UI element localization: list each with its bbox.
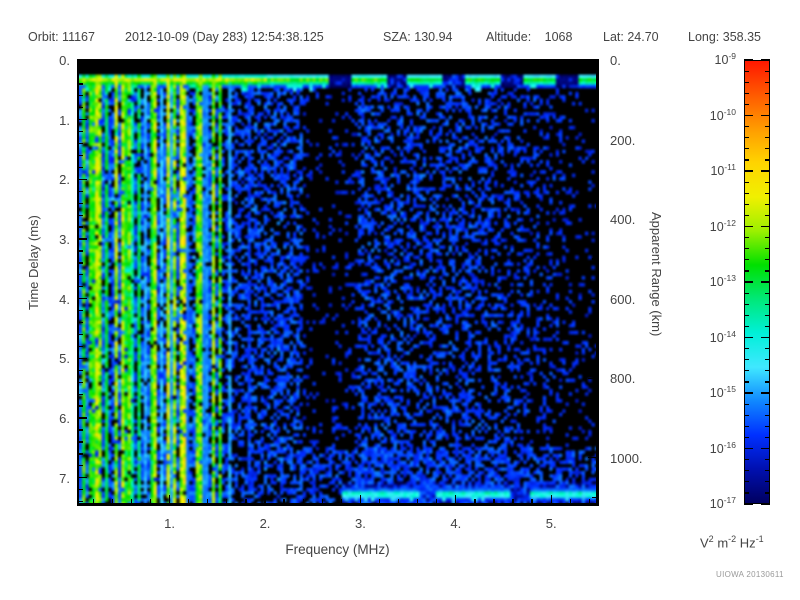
y-tick-left: [78, 167, 83, 168]
header-label-lat: Lat:: [603, 30, 624, 44]
colorbar-tick: [744, 71, 749, 72]
colorbar-tick: [765, 215, 770, 216]
plot-border-left: [77, 59, 79, 506]
x-tick-top: [398, 60, 399, 65]
y-tick-left: [78, 382, 83, 383]
colorbar-label-exponent: -11: [724, 162, 736, 172]
colorbar-tick: [744, 126, 749, 127]
y-tick-left: [78, 477, 87, 478]
y-tick-left: [78, 131, 83, 132]
y2-tick-right: [592, 99, 597, 100]
x-tick-bottom: [188, 499, 189, 504]
y-axis-title: Time Delay (ms): [26, 215, 41, 310]
y-tick-left: [78, 441, 83, 442]
colorbar-tick: [744, 82, 749, 83]
y-tick-left: [78, 358, 87, 359]
colorbar-tick: [744, 315, 749, 316]
x-tick-bottom: [226, 499, 227, 504]
y-tick-left: [78, 107, 83, 108]
colorbar-tick: [761, 170, 770, 171]
x-tick-top: [493, 60, 494, 65]
y-tick-left: [78, 83, 83, 84]
colorbar-tick: [744, 426, 749, 427]
x-tick-bottom: [303, 499, 304, 504]
x-tick-top: [417, 60, 418, 65]
y-tick-left: [78, 191, 83, 192]
colorbar-tick: [744, 270, 749, 271]
spectrogram-plot-area[interactable]: [78, 60, 597, 504]
header-label-orbit: Orbit:: [28, 30, 59, 44]
colorbar-tick-label: 10-15: [688, 384, 736, 400]
x-tick-top: [551, 60, 552, 69]
colorbar-tick: [744, 293, 749, 294]
colorbar-label-mantissa: 10: [715, 53, 729, 67]
colorbar-tick-label: 10-12: [688, 218, 736, 234]
colorbar-tick: [744, 237, 749, 238]
colorbar-tick: [744, 492, 749, 493]
colorbar-tick: [744, 159, 749, 160]
y-tick-left: [78, 286, 83, 287]
y-tick-left: [78, 119, 87, 120]
y2-tick-right: [588, 378, 597, 379]
header-value-sza: 130.94: [414, 30, 452, 44]
y-tick-label: 2.: [22, 172, 70, 187]
unit-volts-exponent: 2: [709, 534, 714, 544]
header-label-altitude: Altitude:: [486, 30, 531, 44]
colorbar-tick: [744, 182, 749, 183]
y-tick-left: [78, 226, 83, 227]
header-value-datetime: 2012-10-09 (Day 283) 12:54:38.125: [125, 30, 324, 44]
colorbar-tick: [744, 392, 753, 393]
y-tick-left: [78, 429, 83, 430]
y2-tick-right: [592, 338, 597, 339]
x-tick-top: [131, 60, 132, 65]
x-tick-bottom: [417, 499, 418, 504]
x-tick-top: [341, 60, 342, 65]
colorbar-tick: [761, 392, 770, 393]
metadata-header: Orbit: 11167 2012-10-09 (Day 283) 12:54:…: [0, 30, 800, 48]
y2-tick-right: [592, 417, 597, 418]
colorbar-tick: [744, 326, 749, 327]
x-tick-bottom: [322, 499, 323, 504]
y2-tick-right: [588, 298, 597, 299]
y2-tick-label: 400.: [610, 212, 635, 227]
x-tick-bottom: [455, 495, 456, 504]
x-tick-top: [150, 60, 151, 65]
y2-tick-right: [588, 59, 597, 60]
x-tick-top: [474, 60, 475, 65]
colorbar-tick: [761, 226, 770, 227]
colorbar-tick: [765, 304, 770, 305]
colorbar-tick-label: 10-17: [688, 495, 736, 511]
colorbar-tick-label: 10-11: [688, 162, 736, 178]
colorbar-label-exponent: -10: [724, 107, 736, 117]
colorbar-tick: [744, 348, 749, 349]
header-field-long: Long: 358.35: [688, 30, 761, 44]
colorbar-tick: [761, 281, 770, 282]
y-tick-left: [78, 155, 83, 156]
header-value-long: 358.35: [723, 30, 761, 44]
x-tick-top: [589, 60, 590, 65]
header-field-lat: Lat: 24.70: [603, 30, 659, 44]
colorbar-tick: [765, 315, 770, 316]
colorbar-tick: [744, 170, 753, 171]
colorbar-tick: [744, 404, 749, 405]
plot-border-top: [78, 59, 599, 61]
y2-tick-label: 800.: [610, 371, 635, 386]
y-tick-left: [78, 143, 83, 144]
x-tick-top: [264, 60, 265, 69]
x-tick-top: [379, 60, 380, 65]
y2-tick-right: [592, 497, 597, 498]
colorbar-tick: [744, 503, 753, 504]
colorbar-tick: [765, 237, 770, 238]
spectrogram-canvas: [79, 61, 597, 504]
colorbar-tick: [765, 326, 770, 327]
colorbar-tick: [744, 481, 749, 482]
colorbar-tick: [765, 459, 770, 460]
colorbar-label-exponent: -12: [724, 218, 736, 228]
plot-border-bottom: [78, 504, 599, 506]
header-value-lat: 24.70: [627, 30, 658, 44]
x-tick-label: 3.: [335, 516, 385, 531]
colorbar-tick: [744, 281, 753, 282]
x-tick-top: [226, 60, 227, 65]
colorbar-tick: [744, 148, 749, 149]
unit-meters: m: [717, 535, 728, 550]
x-tick-bottom: [112, 499, 113, 504]
colorbar-label-exponent: -16: [724, 440, 736, 450]
colorbar-label-mantissa: 10: [710, 164, 724, 178]
x-tick-bottom: [264, 495, 265, 504]
x-tick-label: 4.: [431, 516, 481, 531]
colorbar-tick: [761, 503, 770, 504]
colorbar-unit-label: V2 m-2 Hz-1: [700, 534, 764, 550]
credit-stamp: UIOWA 20130611: [716, 570, 784, 579]
colorbar-tick: [765, 259, 770, 260]
colorbar-label-mantissa: 10: [710, 442, 724, 456]
y-tick-left: [78, 405, 83, 406]
unit-hertz: Hz: [740, 535, 756, 550]
y-tick-left: [78, 501, 83, 502]
colorbar-label-exponent: -14: [724, 329, 736, 339]
y-tick-left: [78, 262, 83, 263]
colorbar-tick: [744, 115, 753, 116]
colorbar-tick-label: 10-14: [688, 329, 736, 345]
colorbar-tick: [761, 448, 770, 449]
colorbar-tick: [765, 137, 770, 138]
y-tick-left: [78, 417, 87, 418]
x-tick-bottom: [245, 499, 246, 504]
colorbar-tick: [744, 93, 749, 94]
header-label-sza: SZA:: [383, 30, 411, 44]
x-tick-bottom: [570, 499, 571, 504]
x-tick-bottom: [207, 499, 208, 504]
y-tick-label: 0.: [22, 53, 70, 68]
colorbar-tick: [744, 193, 749, 194]
colorbar-tick: [761, 337, 770, 338]
x-tick-bottom: [379, 499, 380, 504]
y-tick-left: [78, 334, 83, 335]
unit-volts: V: [700, 535, 709, 550]
colorbar-label-mantissa: 10: [710, 220, 724, 234]
colorbar-tick: [765, 348, 770, 349]
x-tick-bottom: [512, 499, 513, 504]
y-tick-left: [78, 310, 83, 311]
x-tick-bottom: [551, 495, 552, 504]
colorbar-tick-label: 10-10: [688, 107, 736, 123]
plot-border-right: [597, 59, 599, 506]
x-tick-top: [245, 60, 246, 65]
x-tick-top: [455, 60, 456, 69]
y-tick-left: [78, 453, 83, 454]
y-tick-left: [78, 346, 83, 347]
y-tick-left: [78, 238, 87, 239]
x-tick-top: [512, 60, 513, 65]
y-tick-label: 6.: [22, 411, 70, 426]
colorbar-tick: [765, 248, 770, 249]
colorbar-tick: [761, 59, 770, 60]
colorbar-tick: [744, 248, 749, 249]
colorbar-tick: [765, 82, 770, 83]
x-tick-label: 2.: [240, 516, 290, 531]
colorbar-tick: [765, 437, 770, 438]
colorbar-tick: [761, 115, 770, 116]
colorbar-label-mantissa: 10: [710, 331, 724, 345]
y-tick-label: 7.: [22, 471, 70, 486]
colorbar-tick-label: 10-9: [688, 51, 736, 67]
colorbar-tick: [744, 370, 749, 371]
x-tick-bottom: [341, 499, 342, 504]
y-tick-left: [78, 298, 87, 299]
x-tick-top: [112, 60, 113, 65]
colorbar-tick: [744, 204, 749, 205]
y-tick-label: 1.: [22, 113, 70, 128]
x-tick-top: [207, 60, 208, 65]
y-tick-left: [78, 59, 87, 60]
colorbar-tick: [744, 104, 749, 105]
colorbar-tick: [744, 415, 749, 416]
colorbar-tick: [765, 293, 770, 294]
x-tick-bottom: [531, 499, 532, 504]
y2-tick-label: 600.: [610, 292, 635, 307]
y-tick-left: [78, 370, 83, 371]
y-tick-left: [78, 394, 83, 395]
unit-meters-exponent: -2: [728, 534, 736, 544]
y-tick-left: [78, 71, 83, 72]
x-tick-top: [570, 60, 571, 65]
x-tick-top: [322, 60, 323, 65]
colorbar-tick: [744, 215, 749, 216]
colorbar-label-mantissa: 10: [710, 386, 724, 400]
colorbar-tick: [744, 226, 753, 227]
colorbar-label-exponent: -9: [728, 51, 736, 61]
header-field-datetime: 2012-10-09 (Day 283) 12:54:38.125: [125, 30, 324, 44]
colorbar-tick: [744, 359, 749, 360]
x-tick-top: [303, 60, 304, 65]
x-tick-top: [531, 60, 532, 65]
y2-tick-label: 200.: [610, 133, 635, 148]
colorbar-tick: [765, 159, 770, 160]
colorbar-tick: [765, 470, 770, 471]
y-tick-left: [78, 250, 83, 251]
colorbar-tick: [744, 459, 749, 460]
y2-axis-title: Apparent Range (km): [649, 212, 664, 336]
x-tick-bottom: [93, 499, 94, 504]
colorbar-tick: [765, 93, 770, 94]
x-tick-bottom: [493, 499, 494, 504]
y2-tick-right: [592, 258, 597, 259]
colorbar-tick: [744, 137, 749, 138]
colorbar-tick: [744, 470, 749, 471]
colorbar-tick: [765, 126, 770, 127]
colorbar-tick: [744, 304, 749, 305]
header-label-long: Long:: [688, 30, 719, 44]
colorbar-tick: [765, 204, 770, 205]
x-tick-top: [436, 60, 437, 65]
colorbar-label-mantissa: 10: [710, 275, 724, 289]
y-tick-left: [78, 203, 83, 204]
x-tick-top: [283, 60, 284, 65]
y2-tick-label: 1000.: [610, 451, 643, 466]
colorbar-tick: [765, 182, 770, 183]
colorbar-tick: [765, 193, 770, 194]
colorbar-tick: [744, 59, 753, 60]
y-tick-left: [78, 465, 83, 466]
colorbar-tick: [765, 104, 770, 105]
colorbar-tick: [765, 415, 770, 416]
y-tick-left: [78, 95, 83, 96]
header-value-altitude: 1068: [545, 30, 573, 44]
x-tick-bottom: [131, 499, 132, 504]
x-tick-top: [188, 60, 189, 65]
y2-tick-right: [588, 218, 597, 219]
colorbar-tick: [765, 370, 770, 371]
x-axis-title: Frequency (MHz): [0, 542, 675, 557]
colorbar-tick: [765, 71, 770, 72]
colorbar-label-exponent: -13: [724, 273, 736, 283]
colorbar-tick: [765, 481, 770, 482]
colorbar-tick: [765, 404, 770, 405]
y-tick-left: [78, 274, 83, 275]
colorbar-tick-label: 10-13: [688, 273, 736, 289]
unit-hertz-exponent: -1: [756, 534, 764, 544]
x-tick-bottom: [150, 499, 151, 504]
x-tick-bottom: [436, 499, 437, 504]
colorbar-label-mantissa: 10: [710, 497, 724, 511]
header-value-orbit: 11167: [62, 30, 95, 44]
header-field-orbit: Orbit: 11167: [28, 30, 95, 44]
colorbar-tick: [765, 270, 770, 271]
y-tick-left: [78, 489, 83, 490]
colorbar-tick: [744, 259, 749, 260]
x-tick-bottom: [589, 499, 590, 504]
colorbar-tick: [765, 492, 770, 493]
y2-tick-right: [592, 179, 597, 180]
x-tick-bottom: [283, 499, 284, 504]
colorbar-tick: [744, 448, 753, 449]
x-tick-bottom: [398, 499, 399, 504]
y-tick-label: 5.: [22, 351, 70, 366]
y-tick-left: [78, 322, 83, 323]
x-tick-label: 5.: [526, 516, 576, 531]
x-tick-top: [169, 60, 170, 69]
y-tick-left: [78, 215, 83, 216]
x-tick-top: [93, 60, 94, 65]
colorbar-tick: [765, 148, 770, 149]
x-tick-bottom: [169, 495, 170, 504]
colorbar-tick: [765, 359, 770, 360]
x-tick-label: 1.: [145, 516, 195, 531]
colorbar-tick: [744, 337, 753, 338]
x-tick-top: [360, 60, 361, 69]
header-field-sza: SZA: 130.94: [383, 30, 453, 44]
y2-tick-right: [588, 457, 597, 458]
y2-tick-right: [588, 139, 597, 140]
colorbar-label-mantissa: 10: [710, 109, 724, 123]
y-tick-left: [78, 179, 87, 180]
x-tick-bottom: [474, 499, 475, 504]
colorbar-tick-label: 10-16: [688, 440, 736, 456]
colorbar-tick: [744, 381, 749, 382]
colorbar-label-exponent: -17: [724, 495, 736, 505]
colorbar-tick: [744, 437, 749, 438]
y2-tick-label: 0.: [610, 53, 621, 68]
colorbar-label-exponent: -15: [724, 384, 736, 394]
colorbar-tick: [765, 426, 770, 427]
colorbar-tick: [765, 381, 770, 382]
header-field-altitude: Altitude: 1068: [486, 30, 572, 44]
x-tick-bottom: [360, 495, 361, 504]
